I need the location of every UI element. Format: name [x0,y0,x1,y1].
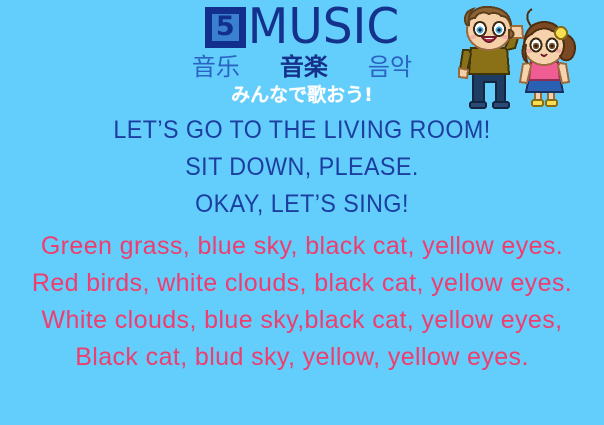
character-illustration-group [455,4,600,114]
english-line: SIT DOWN, PLEASE. [21,149,583,186]
subject-chinese: 音乐 [192,55,240,79]
lyric-line: Green grass, blue sky, black cat, yellow… [0,228,604,265]
boy-character [459,7,523,108]
lyric-line: White clouds, blue sky,black cat, yellow… [0,302,604,339]
channel-5-logo: 5 [205,7,246,48]
lyric-line: Black cat, blud sky, yellow, yellow eyes… [0,339,604,376]
logo-number: 5 [216,13,235,40]
english-line: LET’S GO TO THE LIVING ROOM! [21,112,583,149]
page-title: MUSIC [248,1,399,50]
girl-character [520,9,575,106]
logo-inner-square: 5 [209,11,242,44]
slide-canvas: 5 MUSIC 音乐 音楽 음악 みんなで歌おう! LET’S GO TO TH… [0,0,604,425]
lyric-line: Red birds, white clouds, black cat, yell… [0,265,604,302]
subject-japanese: 音楽 [280,55,328,79]
subject-korean: 음악 [368,55,412,79]
english-line: OKAY, LET’S SING! [21,186,583,223]
english-phrase-block: LET’S GO TO THE LIVING ROOM! SIT DOWN, P… [0,112,604,223]
lyrics-block: Green grass, blue sky, black cat, yellow… [0,228,604,376]
